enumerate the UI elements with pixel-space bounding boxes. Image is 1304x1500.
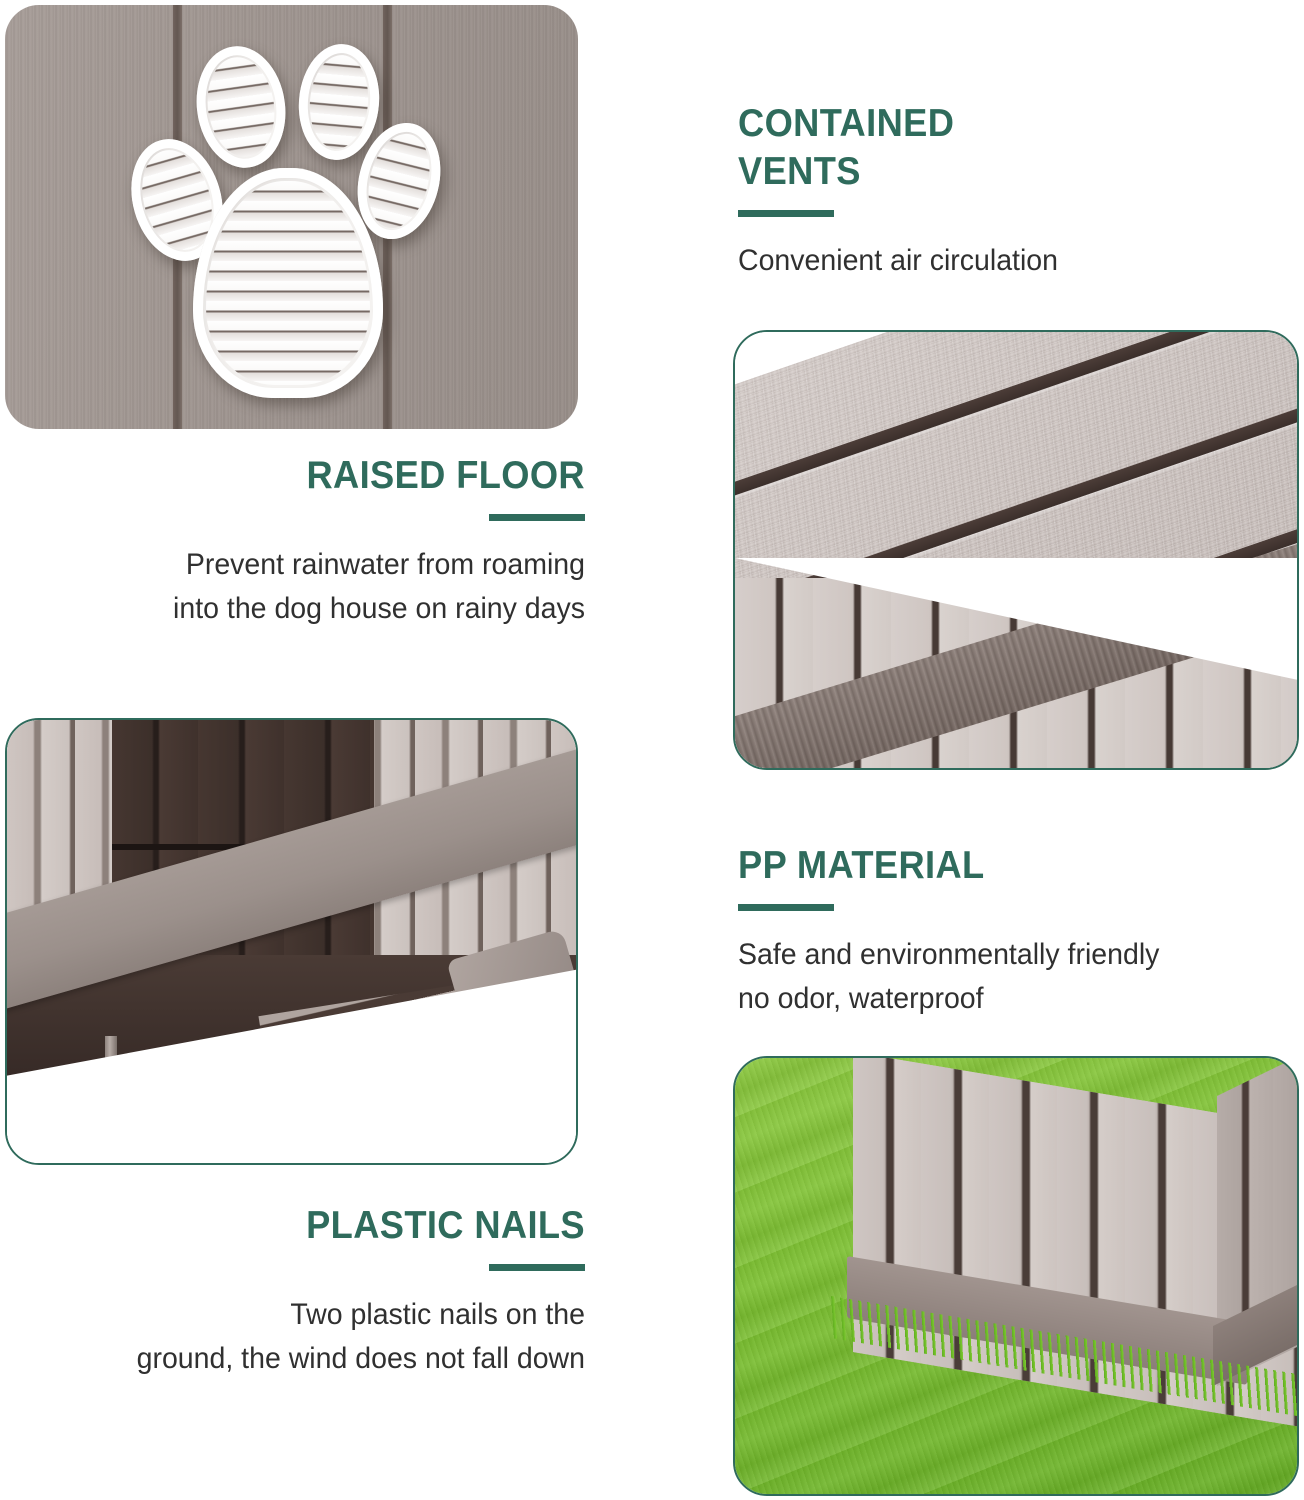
feature-title-line-2: VENTS	[738, 148, 1240, 196]
feature-image-plastic-nails	[5, 718, 578, 1165]
feature-description-line-1: Prevent rainwater from roaming	[29, 543, 585, 587]
feature-description-line-1: Safe and environmentally friendly	[738, 933, 1256, 977]
paw-print-vent-icon	[135, 40, 455, 400]
feature-title: PP MATERIAL	[738, 842, 1245, 890]
feature-title: RAISED FLOOR	[41, 452, 585, 500]
roof-scene	[735, 332, 1297, 768]
title-underline-rule	[738, 904, 834, 911]
infographic-page: CONTAINED VENTS Convenient air circulati…	[0, 0, 1304, 1500]
feature-text-contained-vents: CONTAINED VENTS Convenient air circulati…	[738, 100, 1278, 283]
feature-image-contained-vents	[5, 5, 578, 429]
feature-image-raised-floor	[733, 330, 1299, 770]
feature-image-pp-material	[733, 1056, 1299, 1496]
feature-description-line-2: into the dog house on rainy days	[29, 587, 585, 631]
feature-description-line-2: no odor, waterproof	[738, 977, 1256, 1021]
feature-text-pp-material: PP MATERIAL Safe and environmentally fri…	[738, 842, 1283, 1021]
feature-title: PLASTIC NAILS	[41, 1202, 585, 1250]
feature-description-line-1: Two plastic nails on the	[29, 1293, 585, 1337]
feature-description: Convenient air circulation	[738, 239, 1251, 283]
feature-text-plastic-nails: PLASTIC NAILS Two plastic nails on the g…	[0, 1202, 585, 1381]
title-underline-rule	[489, 514, 585, 521]
paw-toe-vent	[189, 40, 293, 173]
title-underline-rule	[489, 1264, 585, 1271]
feature-description-line-2: ground, the wind does not fall down	[29, 1337, 585, 1381]
feature-text-raised-floor: RAISED FLOOR Prevent rainwater from roam…	[0, 452, 585, 631]
feature-title: CONTAINED	[738, 100, 1240, 148]
underside-scene	[7, 720, 576, 1163]
lawn-scene	[735, 1058, 1297, 1494]
title-underline-rule	[738, 210, 834, 217]
